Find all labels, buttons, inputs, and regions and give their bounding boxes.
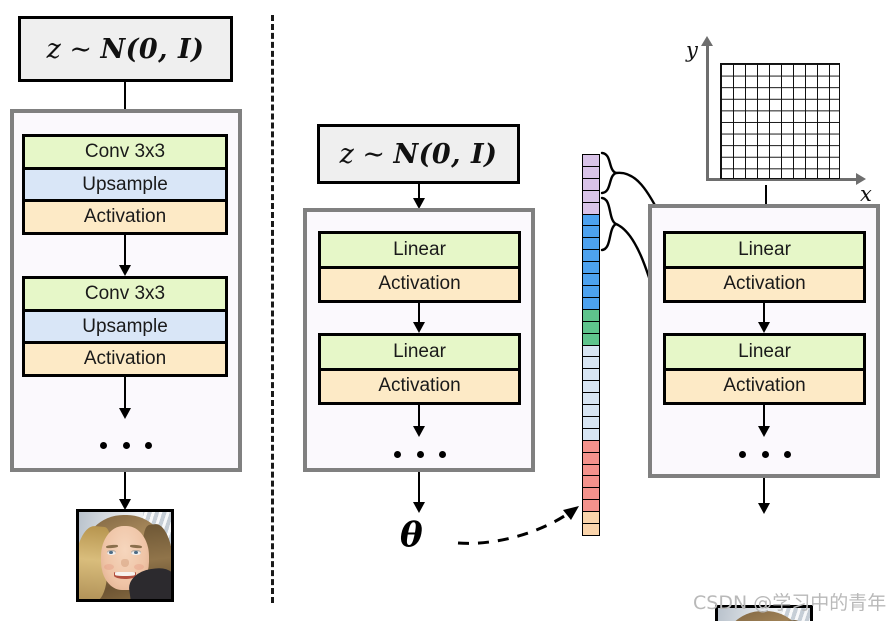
layer-activation: Activation [25, 341, 225, 374]
layer-linear: Linear [666, 336, 863, 368]
parameter-cell [583, 500, 599, 512]
parameter-cell [583, 393, 599, 405]
layer-linear: Linear [321, 234, 518, 266]
arrow-panel-to-output-right [758, 478, 770, 514]
dashed-arrow-theta-to-vector [455, 500, 595, 560]
latent-z-left: z [47, 34, 62, 65]
ellipsis-right [739, 450, 791, 458]
layer-conv-3x3: Conv 3x3 [25, 279, 225, 309]
arrow-block1-to-block2-left [119, 235, 131, 276]
layer-linear: Linear [321, 336, 518, 368]
latent-args-left: (0, I) [126, 34, 205, 65]
arrow-block1-to-block2-middle [413, 303, 425, 333]
latent-normal-left: N [100, 34, 125, 65]
conv-block-2: Conv 3x3 Upsample Activation [22, 276, 228, 377]
parameter-cell [583, 465, 599, 477]
parameter-cell [583, 405, 599, 417]
linear-block-1-middle: Linear Activation [318, 231, 521, 303]
ellipsis-middle [394, 450, 446, 458]
layer-linear: Linear [666, 234, 863, 266]
parameter-cell [583, 346, 599, 358]
sampling-grid [720, 63, 840, 179]
theta-symbol: θ [400, 515, 423, 555]
layer-upsample: Upsample [25, 309, 225, 342]
layer-activation: Activation [321, 368, 518, 403]
parameter-cell [583, 524, 599, 535]
vertical-divider [271, 15, 274, 603]
y-axis-label: y [686, 38, 698, 62]
parameter-cell [583, 238, 599, 250]
y-axis-arrowhead [701, 36, 713, 46]
arrow-panel-to-output-left [119, 472, 131, 510]
parameter-cell [583, 369, 599, 381]
parameter-cell [583, 215, 599, 227]
latent-tilde-left: ∼ [69, 34, 92, 65]
arrow-panel-to-theta [413, 472, 425, 513]
latent-box-left: z ∼ N (0, I) [18, 16, 233, 82]
parameter-cell [583, 203, 599, 215]
layer-activation: Activation [666, 368, 863, 403]
arrow-block2-to-ellipsis-left [119, 377, 131, 419]
parameter-cell [583, 381, 599, 393]
output-face-image-left [76, 509, 174, 602]
conv-block-1: Conv 3x3 Upsample Activation [22, 134, 228, 235]
arrow-latent-to-stack-middle [413, 184, 425, 209]
latent-box-middle: z ∼ N (0, I) [317, 124, 520, 184]
linear-block-2-middle: Linear Activation [318, 333, 521, 405]
x-axis-label: x [860, 182, 872, 206]
coordinate-grid-group: y x [688, 36, 888, 196]
parameter-cell [583, 286, 599, 298]
linear-block-2-right: Linear Activation [663, 333, 866, 405]
layer-conv-3x3: Conv 3x3 [25, 137, 225, 167]
parameter-cell [583, 488, 599, 500]
parameter-cell [583, 441, 599, 453]
latent-normal-middle: N [393, 139, 418, 170]
arrow-block1-to-block2-right [758, 303, 770, 333]
layer-activation: Activation [666, 266, 863, 301]
parameter-cell [583, 274, 599, 286]
layer-activation: Activation [25, 199, 225, 232]
latent-z-middle: z [340, 139, 355, 170]
latent-tilde-middle: ∼ [362, 139, 385, 170]
parameter-cell [583, 310, 599, 322]
parameter-cell [583, 298, 599, 310]
parameter-cell [583, 191, 599, 203]
parameter-cell [583, 167, 599, 179]
parameter-cell [583, 417, 599, 429]
parameter-cell [583, 512, 599, 524]
parameter-cell [583, 357, 599, 369]
parameter-cell [583, 262, 599, 274]
figure-canvas: z ∼ N (0, I) Conv 3x3 Upsample Activatio… [0, 0, 896, 621]
parameter-cell [583, 226, 599, 238]
linear-block-1-right: Linear Activation [663, 231, 866, 303]
parameter-cell [583, 322, 599, 334]
layer-upsample: Upsample [25, 167, 225, 200]
parameter-cell [583, 155, 599, 167]
arrow-block2-to-ellipsis-right [758, 405, 770, 437]
arrow-block2-to-ellipsis-middle [413, 405, 425, 437]
parameter-cell [583, 453, 599, 465]
parameter-cell [583, 250, 599, 262]
parameter-cell [583, 429, 599, 441]
ellipsis-left [100, 441, 152, 449]
latent-args-middle: (0, I) [419, 139, 498, 170]
parameter-cell [583, 334, 599, 346]
y-axis [706, 44, 709, 181]
layer-activation: Activation [321, 266, 518, 301]
watermark: CSDN @学习中的青年 [693, 588, 886, 615]
parameter-cell [583, 476, 599, 488]
parameter-cell [583, 179, 599, 191]
